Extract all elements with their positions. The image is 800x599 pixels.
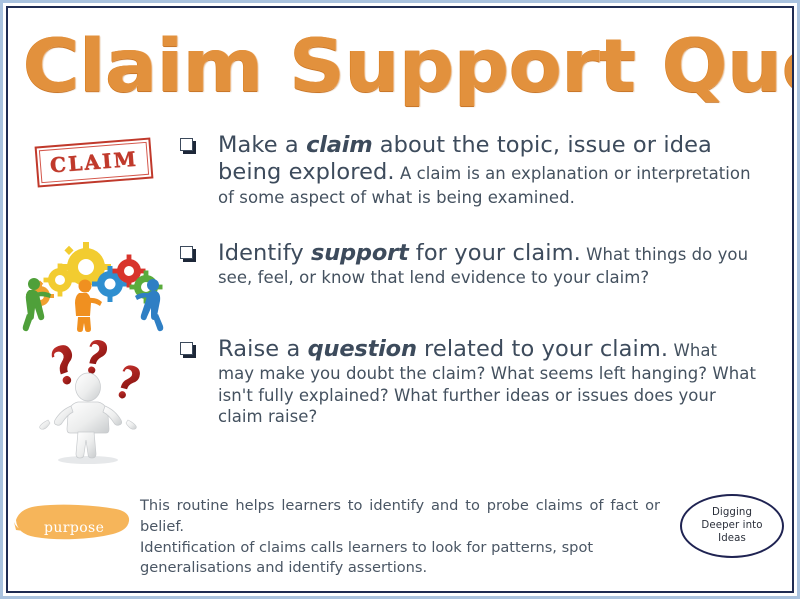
- support-lead-suffix: for your claim.: [409, 240, 581, 266]
- support-lead-prefix: Identify: [218, 240, 311, 266]
- purpose-badge-label: purpose: [44, 520, 104, 536]
- question-text-cell: Raise a question related to your claim. …: [180, 336, 792, 428]
- page-title: Claim Support Question: [8, 31, 794, 103]
- claim-copy: Make a claim about the topic, issue or i…: [180, 132, 758, 208]
- claim-lead-emphasis: claim: [306, 132, 372, 158]
- support-lead-emphasis: support: [311, 240, 409, 266]
- routine-steps-list: CLAIM Make a claim about the topic, issu…: [8, 132, 792, 466]
- question-mark-right: [116, 364, 142, 402]
- footer-line-1: This routine helps learners to identify …: [140, 496, 660, 537]
- question-lead-emphasis: question: [308, 336, 417, 362]
- checkbox-bullet-icon: [180, 342, 193, 355]
- claim-text-cell: Make a claim about the topic, issue or i…: [180, 132, 792, 208]
- claim-lead-prefix: Make a: [218, 132, 306, 158]
- support-text-cell: Identify support for your claim. What th…: [180, 240, 792, 289]
- poster: Claim Support Question CLAIM Make a clai…: [0, 0, 800, 599]
- claim-stamp-graphic: CLAIM: [35, 138, 154, 188]
- footer-line-3: generalisations and identify assertions.: [140, 558, 660, 579]
- question-mark-top: [86, 339, 108, 376]
- routine-step-claim: CLAIM Make a claim about the topic, issu…: [8, 132, 792, 240]
- checkbox-bullet-icon: [180, 246, 193, 259]
- question-lead-prefix: Raise a: [218, 336, 308, 362]
- question-copy: Raise a question related to your claim. …: [180, 336, 758, 428]
- poster-inner-frame: Claim Support Question CLAIM Make a clai…: [6, 6, 794, 593]
- oval-outline: Digging Deeper into Ideas: [680, 494, 784, 558]
- routine-step-question: Raise a question related to your claim. …: [8, 336, 792, 466]
- question-lead: Raise a question related to your claim.: [218, 336, 668, 362]
- footer-line-2: Identification of claims calls learners …: [140, 538, 660, 559]
- oval-line-1: Digging: [701, 507, 762, 520]
- checkbox-bullet-icon: [180, 138, 193, 151]
- question-marks-figure-graphic: [26, 336, 176, 464]
- footer: purpose This routine helps learners to i…: [8, 492, 792, 579]
- claim-stamp-inner-border: CLAIM: [39, 142, 149, 183]
- claim-stamp-label: CLAIM: [49, 147, 139, 178]
- oval-line-2: Deeper into: [701, 520, 762, 533]
- digging-deeper-badge: Digging Deeper into Ideas: [674, 492, 792, 562]
- purpose-badge: purpose: [8, 492, 140, 552]
- question-mark-left: [49, 343, 81, 387]
- oval-badge-text: Digging Deeper into Ideas: [701, 507, 762, 546]
- title-band: Claim Support Question: [8, 8, 792, 126]
- support-copy: Identify support for your claim. What th…: [180, 240, 758, 289]
- oval-line-3: Ideas: [701, 533, 762, 546]
- routine-step-support: Identify support for your claim. What th…: [8, 240, 792, 336]
- gears-and-people-graphic: [22, 240, 172, 332]
- footer-description: This routine helps learners to identify …: [140, 492, 674, 579]
- question-lead-suffix: related to your claim.: [417, 336, 668, 362]
- support-lead: Identify support for your claim.: [218, 240, 581, 266]
- figure-green: [23, 278, 51, 331]
